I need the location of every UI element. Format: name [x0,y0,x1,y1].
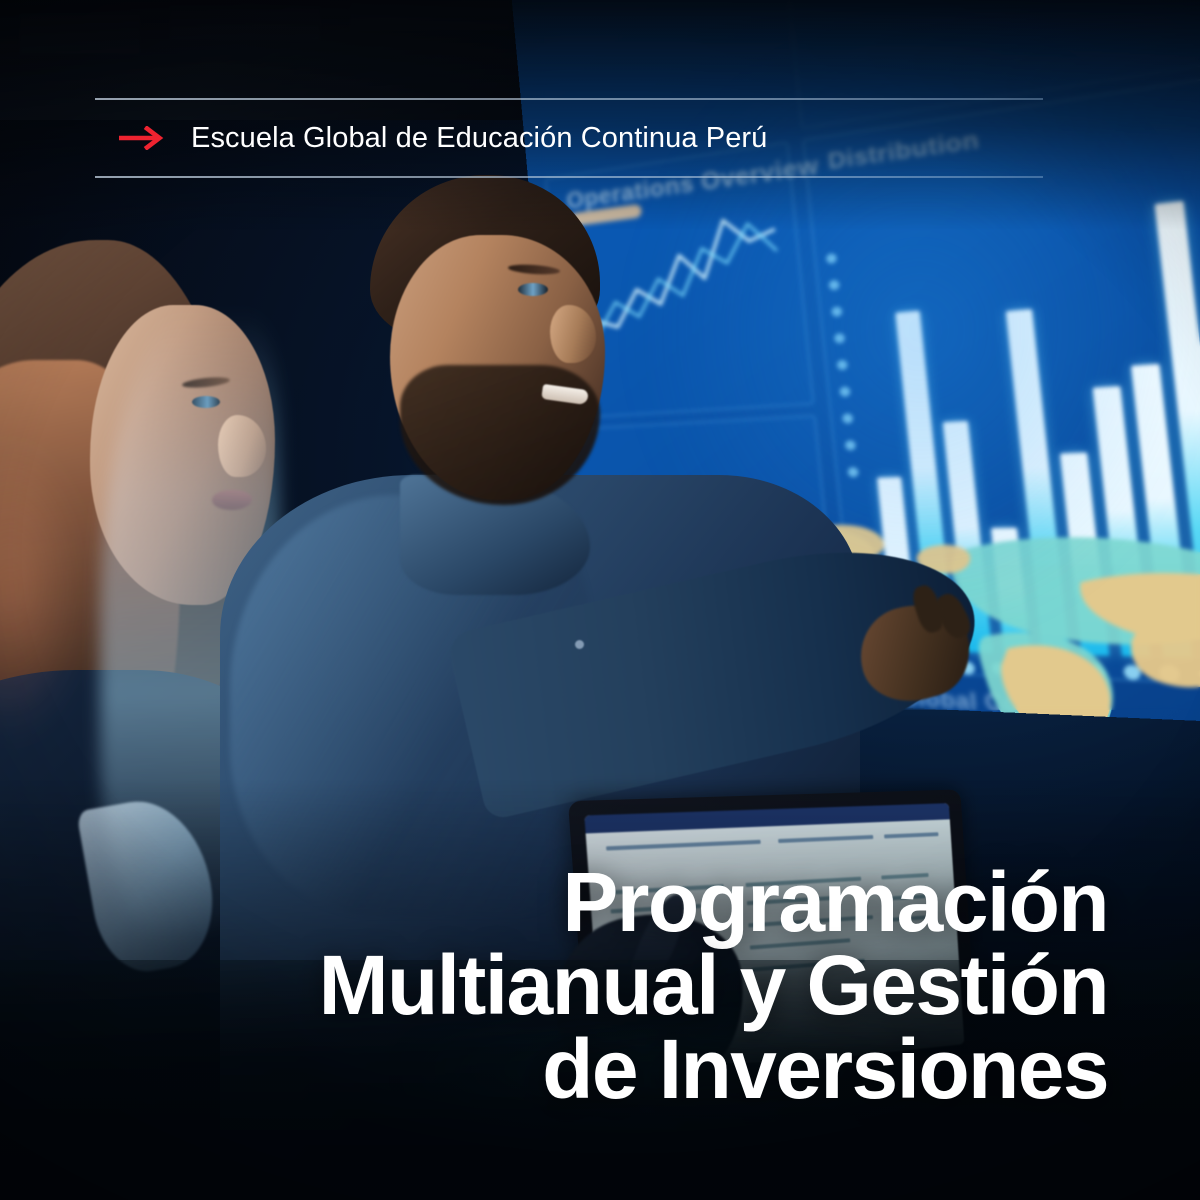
title-line-2: Multianual y Gestión [98,944,1108,1027]
eyebrow-row: Escuela Global de Educación Continua Per… [95,100,1043,176]
ceiling-light-panel [20,14,140,54]
ceiling-light-panel [170,6,320,40]
title-line-3: de Inversiones [98,1028,1108,1111]
woman-warm-light [0,380,120,800]
man-shirt-button [575,640,584,649]
promo-banner: Operations Overview Distribution Global … [0,0,1200,1200]
eyebrow-rule-bottom [95,176,1043,178]
page-title: Programación Multianual y Gestión de Inv… [98,861,1108,1110]
eyebrow-label: Escuela Global de Educación Continua Per… [191,122,767,155]
eyebrow-block: Escuela Global de Educación Continua Per… [95,98,1043,178]
ceiling-light-panel [350,0,510,30]
laptop-browser-bar [584,803,949,833]
man-eye [518,283,548,296]
arrow-right-icon [119,126,165,150]
title-line-1: Programación [98,861,1108,944]
